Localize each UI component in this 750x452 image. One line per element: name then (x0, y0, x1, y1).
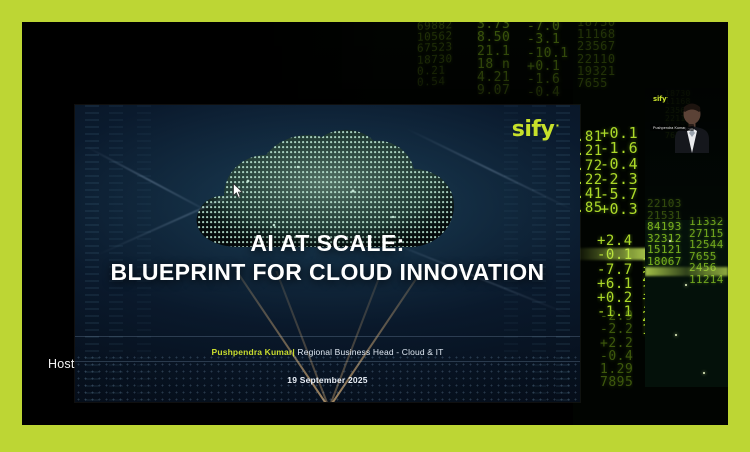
ticker-column: -2.9 -2.2 +2.2 -0.4 1.29 7895 (600, 310, 633, 425)
participant-video-thumbnail[interactable]: 22103 21531 84193 32312 15121 18067 1133… (645, 88, 728, 387)
slide-title-line-2: BLUEPRINT FOR CLOUD INNOVATION (75, 258, 580, 287)
sify-watermark: sify· (653, 95, 668, 103)
presenter-separator: | (292, 347, 295, 357)
participant-name-caption: Pushpendra Kumar, ... (650, 124, 694, 131)
slide-date: 19 September 2025 (75, 375, 580, 385)
webcam-spark (685, 284, 687, 286)
presenter-name: Pushpendra Kumar (212, 347, 293, 357)
slide-divider-top (75, 336, 580, 337)
host-label: Host (48, 357, 75, 371)
sify-logo: sify· (512, 119, 558, 141)
app-window-frame: 69882 10562 67523 18730 0.21 0.54 3.73 8… (0, 0, 750, 452)
slide-divider-bottom (75, 361, 580, 362)
sify-watermark-text: sify (653, 95, 666, 103)
sify-watermark-dot: · (666, 95, 667, 100)
webcam-ticker-column: 11332 27115 12544 7655 2456 11214 (689, 216, 724, 387)
slide-title-line-1: AI AT SCALE: (75, 229, 580, 258)
shared-screen-slide[interactable]: sify· AI AT SCALE: BLUEPRINT FOR CLOUD I… (75, 105, 580, 402)
webcam-spark (675, 334, 677, 336)
sify-logo-dot: · (555, 119, 559, 132)
sify-logo-text: sify (512, 117, 555, 142)
presenter-role: Regional Business Head - Cloud & IT (297, 347, 443, 357)
slide-presenter-line: Pushpendra Kumar| Regional Business Head… (75, 347, 580, 357)
webcam-spark (703, 372, 705, 374)
slide-title: AI AT SCALE: BLUEPRINT FOR CLOUD INNOVAT… (75, 229, 580, 288)
meeting-stage: 69882 10562 67523 18730 0.21 0.54 3.73 8… (22, 22, 728, 425)
webcam-spark (669, 240, 671, 242)
webcam-highlight-band (645, 267, 728, 276)
